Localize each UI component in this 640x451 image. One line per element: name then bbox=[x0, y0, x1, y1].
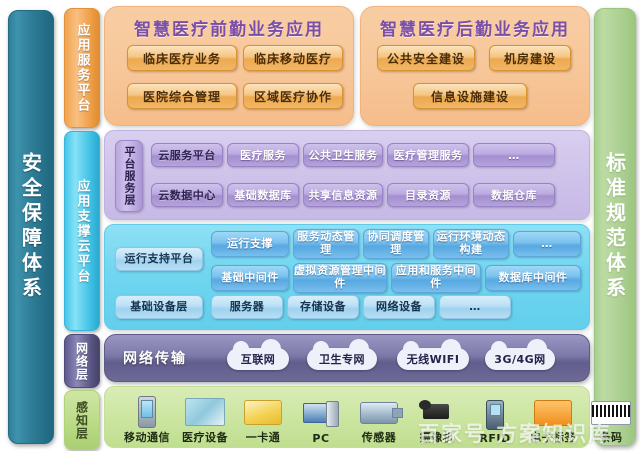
platform-item-shared-information-resources[interactable]: 共享信息资源 bbox=[303, 183, 383, 207]
mobile-phone-icon bbox=[127, 394, 167, 428]
panel-back-office-title: 智慧医疗后勤业务应用 bbox=[361, 15, 589, 40]
video-camera-icon bbox=[417, 394, 457, 428]
perception-label-mobile-communication: 移动通信 bbox=[124, 429, 170, 445]
cloud-item-virtual-resource-management-middleware[interactable]: 虚拟资源管理中间件 bbox=[293, 263, 387, 293]
standards-system-label: 标准规范体系 bbox=[601, 152, 630, 302]
layer-tab-support-cloud-platform: 应用支撑云平台 bbox=[64, 131, 100, 331]
app-item-hospital-comprehensive-management[interactable]: 医院综合管理 bbox=[127, 83, 237, 109]
perception-label-rfid: RFID bbox=[479, 432, 510, 445]
network-item-wireless-wifi[interactable]: 无线WIFI bbox=[397, 348, 469, 370]
cloud-item-basic-middleware[interactable]: 基础中间件 bbox=[211, 265, 289, 291]
rfid-reader-icon bbox=[475, 397, 515, 431]
app-item-public-safety-construction[interactable]: 公共安全建设 bbox=[377, 45, 475, 71]
cloud-item-network-device[interactable]: 网络设备 bbox=[363, 295, 435, 319]
medical-device-icon bbox=[185, 394, 225, 428]
network-item-3g-4g-network[interactable]: 3G/4G网 bbox=[485, 348, 555, 370]
perception-layer: 移动通信 医疗设备 一卡通 PC 传感器 摄像机 RFID 电子标签 bbox=[104, 386, 590, 448]
perception-item-rfid[interactable]: RFID bbox=[467, 389, 523, 445]
platform-item-medical-management-service[interactable]: 医疗管理服务 bbox=[387, 143, 469, 167]
cloud-item-storage-device[interactable]: 存储设备 bbox=[287, 295, 359, 319]
layer-tab-application-service-platform: 应用服务平台 bbox=[64, 8, 100, 128]
platform-service-layer-tag: 平台服务层 bbox=[115, 140, 143, 212]
panel-front-office-title: 智慧医疗前勤业务应用 bbox=[105, 15, 353, 40]
layer-tab-perception-label: 感知层 bbox=[74, 401, 91, 440]
cloud-tag-infrastructure-layer[interactable]: 基础设备层 bbox=[115, 295, 203, 319]
layer-tab-application-label: 应用服务平台 bbox=[73, 23, 92, 113]
platform-item-cloud-data-center[interactable]: 云数据中心 bbox=[151, 183, 223, 207]
network-item-internet-label: 互联网 bbox=[241, 351, 276, 367]
perception-item-barcode[interactable]: 条码 bbox=[583, 389, 639, 445]
network-transmission-label: 网络传输 bbox=[123, 348, 187, 368]
platform-item-cloud-service-platform[interactable]: 云服务平台 bbox=[151, 143, 223, 167]
network-item-health-private-network-label: 卫生专网 bbox=[319, 351, 365, 367]
perception-label-sensor: 传感器 bbox=[362, 429, 397, 445]
network-item-3g-4g-network-label: 3G/4G网 bbox=[494, 351, 545, 367]
security-system-label: 安全保障体系 bbox=[17, 152, 46, 302]
layer-tab-network-label: 网络层 bbox=[74, 342, 91, 381]
cloud-item-collaborative-scheduling-management[interactable]: 协同调度管理 bbox=[363, 229, 429, 259]
architecture-diagram: 安全保障体系 标准规范体系 应用服务平台 应用支撑云平台 网络层 感知层 智慧医… bbox=[0, 0, 640, 451]
platform-item-more-row1[interactable]: … bbox=[473, 143, 555, 167]
platform-service-layer-tag-label: 平台服务层 bbox=[121, 146, 137, 206]
network-item-internet[interactable]: 互联网 bbox=[227, 348, 289, 370]
platform-item-medical-service[interactable]: 医疗服务 bbox=[227, 143, 299, 167]
app-item-clinical-medical-business[interactable]: 临床医疗业务 bbox=[127, 45, 237, 71]
desktop-computer-icon bbox=[301, 397, 341, 431]
panel-front-office-applications: 智慧医疗前勤业务应用 临床医疗业务 临床移动医疗 医院综合管理 区域医疗协作 bbox=[104, 6, 354, 126]
perception-label-medical-device: 医疗设备 bbox=[182, 429, 228, 445]
app-item-clinical-mobile-medical[interactable]: 临床移动医疗 bbox=[243, 45, 343, 71]
perception-item-electronic-tag[interactable]: 电子标签 bbox=[525, 389, 581, 445]
perception-label-all-in-one-card: 一卡通 bbox=[246, 429, 281, 445]
cloud-item-runtime-support[interactable]: 运行支撑 bbox=[211, 231, 289, 257]
network-transmission-layer: 网络传输 互联网 卫生专网 无线WIFI 3G/4G网 bbox=[104, 334, 590, 382]
platform-item-public-health-service[interactable]: 公共卫生服务 bbox=[303, 143, 383, 167]
cloud-item-more-row3[interactable]: … bbox=[439, 295, 511, 319]
cloud-item-application-and-service-middleware[interactable]: 应用和服务中间件 bbox=[391, 263, 481, 293]
cloud-item-service-dynamic-management[interactable]: 服务动态管理 bbox=[293, 229, 359, 259]
perception-item-pc[interactable]: PC bbox=[293, 389, 349, 445]
smart-card-icon bbox=[243, 394, 283, 428]
perception-item-medical-device[interactable]: 医疗设备 bbox=[177, 389, 233, 445]
platform-service-layer: 平台服务层 云服务平台 医疗服务 公共卫生服务 医疗管理服务 … 云数据中心 基… bbox=[104, 130, 590, 220]
perception-label-barcode: 条码 bbox=[600, 429, 623, 445]
layer-tab-perception: 感知层 bbox=[64, 390, 100, 450]
network-item-wireless-wifi-label: 无线WIFI bbox=[407, 351, 460, 367]
network-item-health-private-network[interactable]: 卫生专网 bbox=[307, 348, 377, 370]
platform-item-basic-database[interactable]: 基础数据库 bbox=[227, 183, 299, 207]
app-item-information-facility-construction[interactable]: 信息设施建设 bbox=[413, 83, 527, 109]
sensor-icon bbox=[359, 394, 399, 428]
barcode-icon bbox=[591, 394, 631, 428]
perception-item-camera[interactable]: 摄像机 bbox=[409, 389, 465, 445]
cloud-item-runtime-environment-dynamic-construction[interactable]: 运行环境动态构建 bbox=[433, 229, 509, 259]
perception-item-mobile-communication[interactable]: 移动通信 bbox=[119, 389, 175, 445]
cloud-item-database-middleware[interactable]: 数据库中间件 bbox=[485, 265, 581, 291]
platform-item-directory-resources[interactable]: 目录资源 bbox=[387, 183, 469, 207]
app-item-server-room-construction[interactable]: 机房建设 bbox=[489, 45, 571, 71]
perception-item-all-in-one-card[interactable]: 一卡通 bbox=[235, 389, 291, 445]
cloud-tag-runtime-support-platform[interactable]: 运行支持平台 bbox=[115, 247, 203, 271]
cloud-item-more-row1[interactable]: … bbox=[513, 231, 581, 257]
panel-back-office-applications: 智慧医疗后勤业务应用 公共安全建设 机房建设 信息设施建设 bbox=[360, 6, 590, 126]
security-system-pillar: 安全保障体系 bbox=[8, 10, 54, 444]
cloud-item-server[interactable]: 服务器 bbox=[211, 295, 283, 319]
layer-tab-cloud-label: 应用支撑云平台 bbox=[73, 179, 92, 284]
standards-system-pillar: 标准规范体系 bbox=[594, 8, 636, 446]
perception-label-camera: 摄像机 bbox=[420, 429, 455, 445]
perception-label-pc: PC bbox=[312, 432, 329, 445]
layer-tab-network: 网络层 bbox=[64, 334, 100, 388]
support-cloud-platform-layer: 运行支持平台 基础设备层 运行支撑 服务动态管理 协同调度管理 运行环境动态构建… bbox=[104, 224, 590, 330]
app-item-regional-medical-collaboration[interactable]: 区域医疗协作 bbox=[243, 83, 343, 109]
electronic-tag-icon bbox=[533, 394, 573, 428]
platform-item-data-warehouse[interactable]: 数据仓库 bbox=[473, 183, 555, 207]
perception-item-sensor[interactable]: 传感器 bbox=[351, 389, 407, 445]
perception-label-electronic-tag: 电子标签 bbox=[530, 429, 576, 445]
